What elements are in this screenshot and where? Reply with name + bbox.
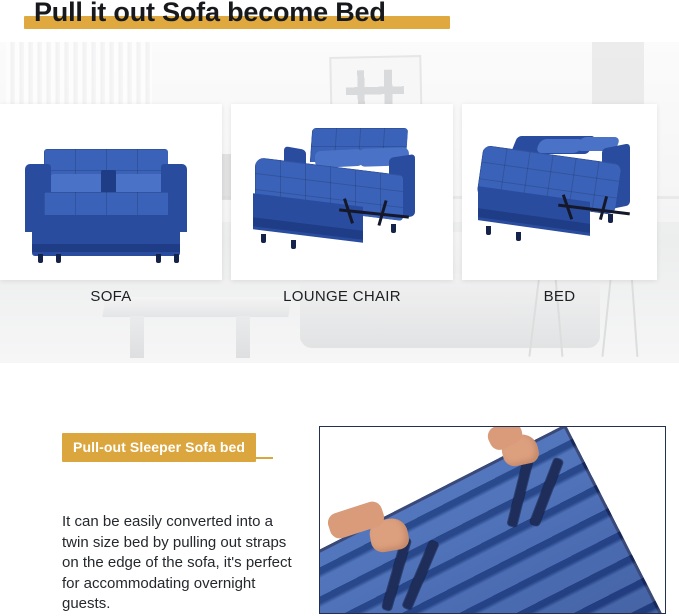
caption-lounge-chair: LOUNGE CHAIR [231,288,453,305]
bed-leg [608,214,613,223]
scene-table-leg [236,316,250,358]
sofa-leg [38,254,43,263]
lounge-leg [391,224,396,233]
caption-bed: BED [462,288,657,305]
sofa-leg [174,254,179,263]
feature-badge-underline [62,457,273,459]
sofa-leg [156,254,161,263]
sofa-leg [56,254,61,263]
product-infographic: { "header": { "title": "Pull it out Sofa… [0,0,679,616]
sofa-base-shadow [32,244,180,252]
page-header: Pull it out Sofa become Bed [0,0,679,42]
bed-leg [486,226,491,235]
bed-leg [516,232,521,241]
product-card-bed[interactable] [462,104,657,280]
page-title: Pull it out Sofa become Bed [34,0,654,28]
product-card-sofa[interactable] [0,104,222,280]
product-card-lounge-chair[interactable] [231,104,453,280]
feature-description: It can be easily converted into a twin s… [62,512,294,615]
lounge-leg [261,234,266,243]
lounge-leg [291,240,296,249]
strap-demo-photo [319,426,666,614]
caption-sofa: SOFA [0,288,222,305]
scene-table-leg [130,316,144,358]
